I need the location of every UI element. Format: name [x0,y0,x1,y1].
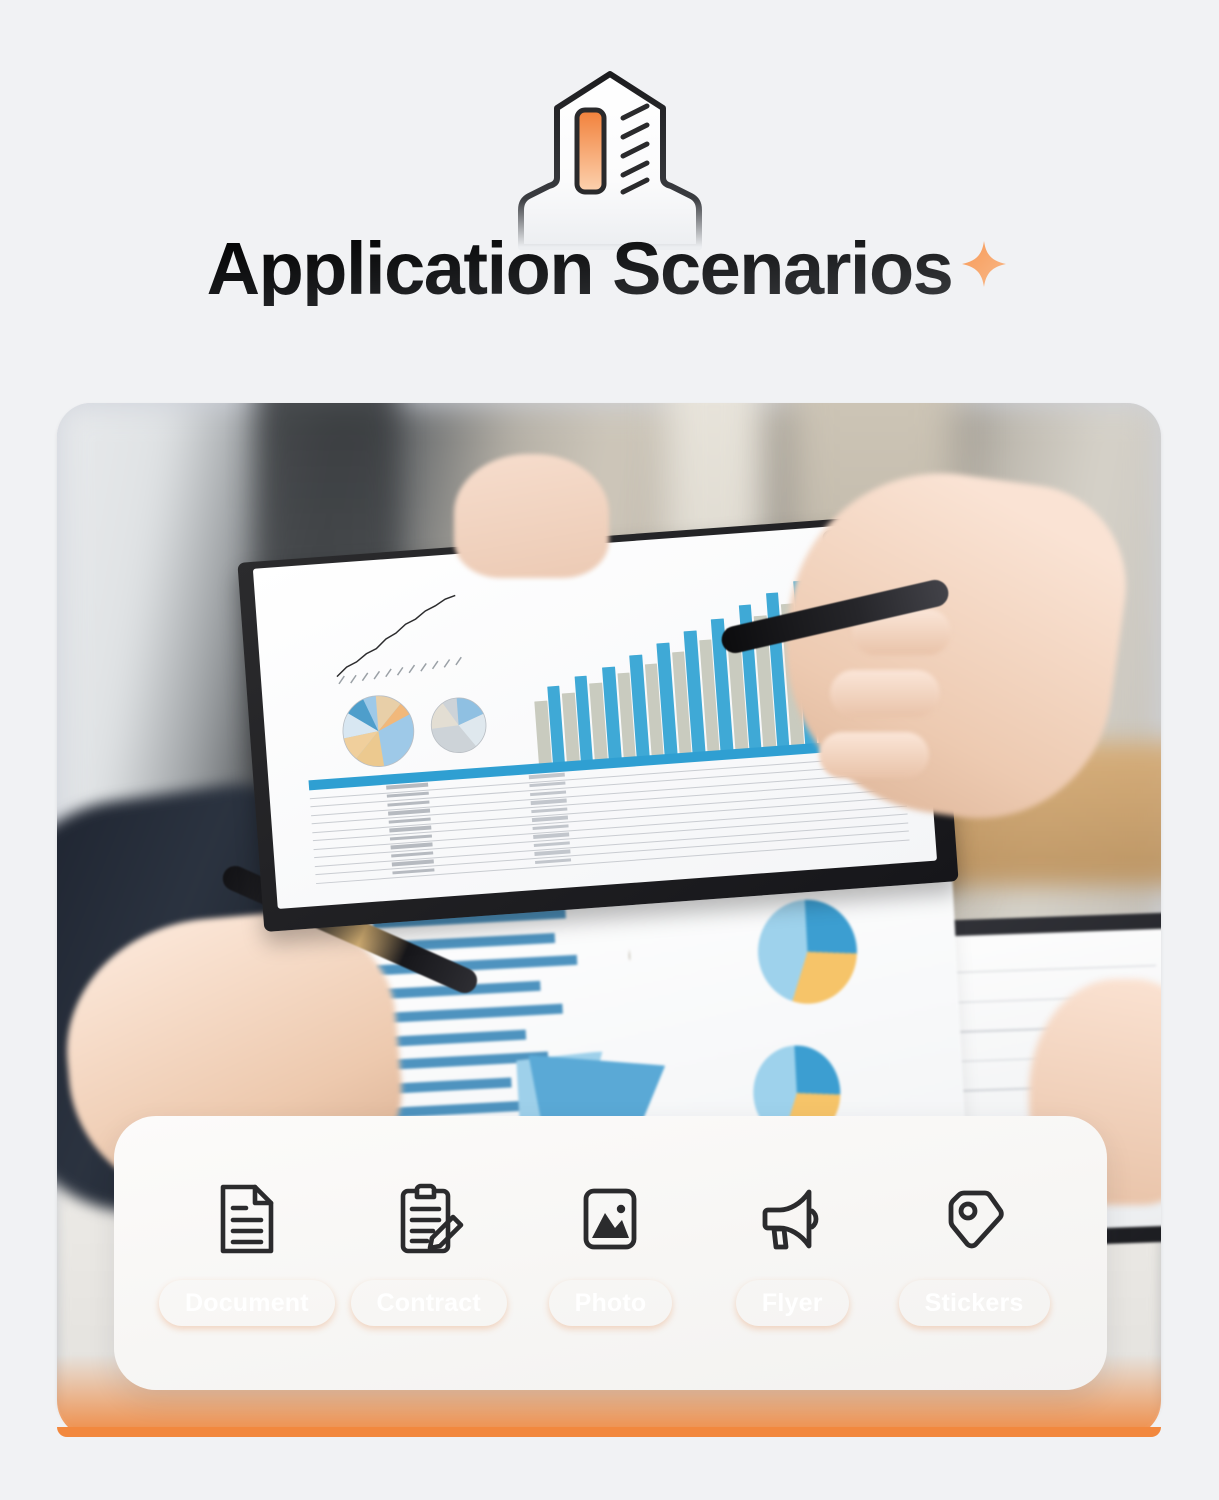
page-header: Application Scenarios [0,0,1219,390]
report-pie-charts [296,675,540,781]
scenario-item-contract[interactable]: Contract [338,1180,520,1326]
clipboard-pencil-icon [393,1180,465,1258]
scenario-item-flyer[interactable]: Flyer [701,1180,883,1326]
scenario-pill-label[interactable]: Flyer [736,1280,849,1326]
sheet-line-chart [626,893,768,1018]
scenario-pill-label[interactable]: Stickers [899,1280,1050,1326]
brand-logo [495,62,725,252]
scenario-pill-card: Document Contract Photo [114,1116,1107,1390]
finger-3 [819,732,929,778]
scenario-pill-label[interactable]: Document [159,1280,335,1326]
finger-2 [830,670,940,716]
scenario-item-stickers[interactable]: Stickers [883,1180,1065,1326]
sparkle-icon [956,236,1012,297]
megaphone-icon [755,1180,829,1258]
document-icon [212,1180,282,1258]
image-icon [575,1180,645,1258]
scenario-item-document[interactable]: Document [156,1180,338,1326]
sheet-pie-chart-1 [756,898,860,1007]
building-skyscraper-icon [495,62,725,252]
price-tag-icon [938,1180,1010,1258]
report-line-chart [289,584,520,689]
scenario-pill-label[interactable]: Contract [351,1280,507,1326]
page-title-row: Application Scenarios [0,232,1219,306]
hand-top-thumb [454,454,609,577]
scenario-pill-label[interactable]: Photo [549,1280,673,1326]
scenario-item-photo[interactable]: Photo [520,1180,702,1326]
page-title: Application Scenarios [207,232,953,306]
